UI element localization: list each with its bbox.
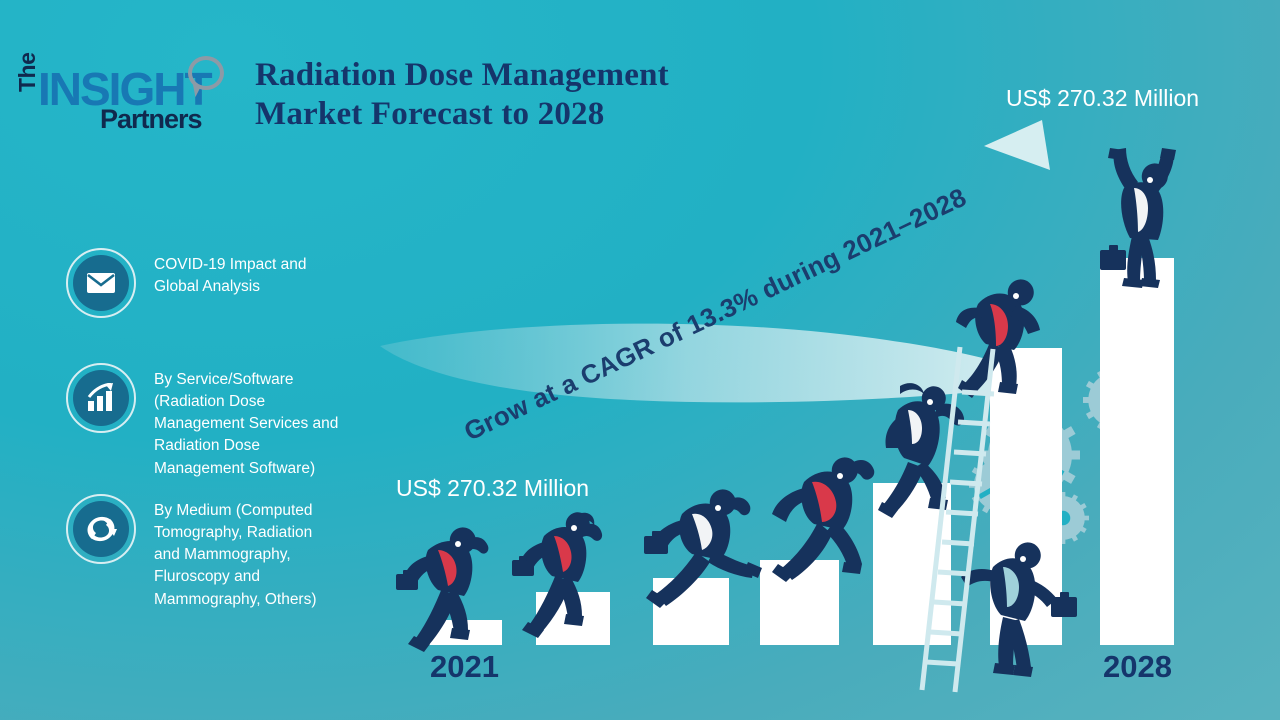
sidebar-item-covid-impact[interactable]: COVID-19 Impact and Global Analysis (66, 248, 306, 318)
badge-ring (66, 248, 136, 318)
axis-label-2028: 2028 (1103, 649, 1172, 685)
bar-2021 (428, 620, 502, 645)
bar-2028 (1100, 258, 1174, 645)
growth-bar-chart-icon (85, 383, 117, 413)
sidebar-item-by-service-software[interactable]: By Service/Software (Radiation Dose Mana… (66, 363, 338, 480)
upward-arrow-icon (980, 118, 1052, 180)
bar-2024 (760, 560, 839, 645)
badge-ring (66, 494, 136, 564)
envelope-icon (86, 272, 116, 294)
sidebar-item-label: By Service/Software (Radiation Dose Mana… (154, 363, 338, 480)
sidebar-item-label: COVID-19 Impact and Global Analysis (154, 248, 306, 298)
bar-2025 (873, 483, 951, 645)
bar-2022 (536, 592, 610, 645)
value-label-start: US$ 270.32 Million (396, 475, 589, 502)
infographic-canvas: The INSIGHT Partners Radiation Dose Mana… (0, 0, 1280, 720)
bar-2023 (653, 578, 729, 645)
badge-ring (66, 363, 136, 433)
value-label-end: US$ 270.32 Million (1006, 85, 1199, 112)
axis-label-2021: 2021 (430, 649, 499, 685)
page-title: Radiation Dose Management Market Forecas… (255, 56, 875, 133)
logo-the-text: The (14, 53, 41, 92)
brand-logo[interactable]: The INSIGHT Partners (8, 40, 238, 135)
refresh-arrows-icon (85, 514, 117, 544)
sidebar-item-label: By Medium (Computed Tomography, Radiatio… (154, 494, 317, 611)
logo-partners-text: Partners (100, 104, 202, 135)
sidebar-item-by-medium[interactable]: By Medium (Computed Tomography, Radiatio… (66, 494, 317, 611)
bar-2026 (990, 348, 1062, 645)
